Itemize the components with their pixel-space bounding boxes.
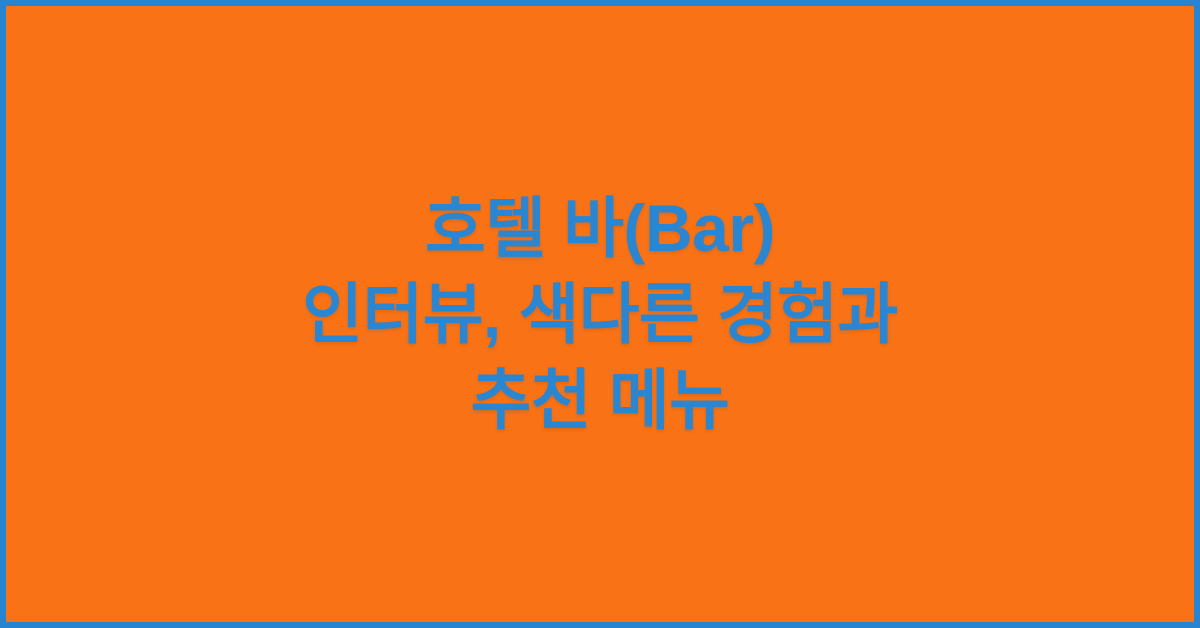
- title-block: 호텔 바(Bar) 인터뷰, 색다른 경험과 추천 메뉴: [6, 185, 1194, 443]
- thumbnail-canvas: 호텔 바(Bar) 인터뷰, 색다른 경험과 추천 메뉴: [0, 0, 1200, 628]
- title-line-2: 인터뷰, 색다른 경험과: [46, 271, 1154, 357]
- title-line-3: 추천 메뉴: [46, 357, 1154, 443]
- title-line-1: 호텔 바(Bar): [46, 185, 1154, 271]
